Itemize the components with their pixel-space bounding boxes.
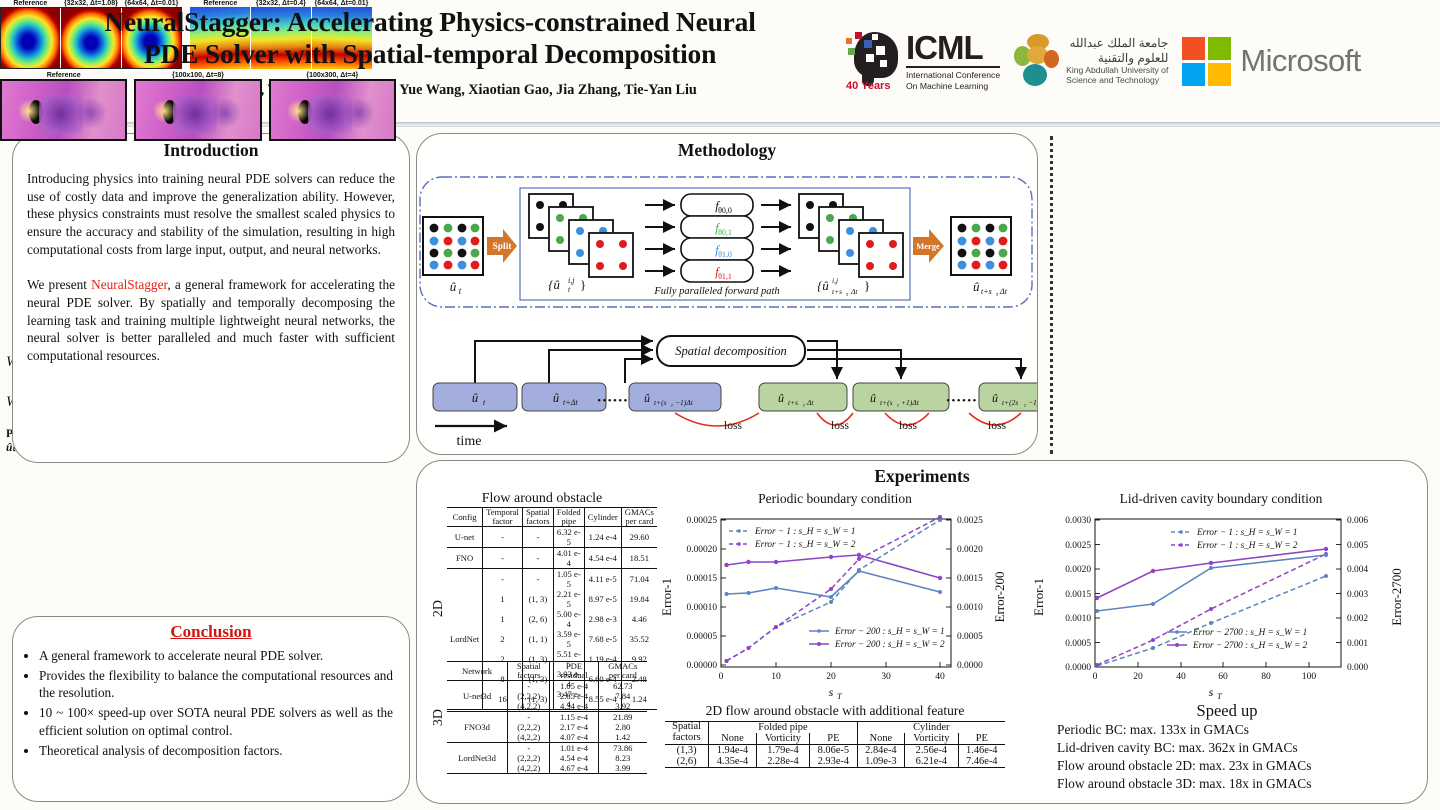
forward-path-caption: Fully paralleled forward path [653,286,779,297]
svg-text:θ1,0: θ1,0 [718,250,732,259]
th-cylinder: Cylinder [584,508,621,527]
svg-text:i,j: i,j [832,276,838,285]
svg-text:0.0000: 0.0000 [957,661,983,671]
svg-text:t+s: t+s [832,287,842,296]
svg-text:40: 40 [1176,671,1186,682]
kaust-arabic-1: جامعة الملك عبدالله [1066,36,1168,50]
table-subheader-row: None Vorticity PE None Vorticity PE [665,733,1005,745]
list-item: A general framework to accelerate neural… [39,647,393,664]
series-error200-s2 [727,555,941,578]
cell: 1.94e-4 [709,745,757,757]
cell: 4.54 e-4 [550,753,598,763]
cell: 2.98 e-3 [584,609,621,629]
icml-subtitle-2: On Machine Learning [906,81,1000,92]
svg-text:θ1,1: θ1,1 [718,272,732,281]
additional-feature-table-block: 2D flow around obstacle with additional … [649,703,1021,768]
cell: 2.84e-4 [857,745,905,757]
viz-flow-image-0 [0,79,127,141]
cell: - [508,681,550,692]
methodology-title: Methodology [417,140,1037,161]
svg-text:0.0005: 0.0005 [957,632,983,642]
svg-text:τ: τ [846,292,849,298]
cell: (2,2,2) [508,691,550,701]
svg-text:0: 0 [1093,671,1098,682]
svg-text:0.006: 0.006 [1347,516,1368,526]
table-row: LordNet--1.05 e-54.11 e-571.04 [447,569,657,590]
svg-text:û: û [973,279,980,294]
speedup-block: Speed up Periodic BC: max. 133x in GMACs… [1037,701,1417,793]
loss-label-2: loss [899,420,917,432]
cell: (2, 6) [522,609,553,629]
svg-text:0.00010: 0.00010 [687,603,718,613]
svg-text:20: 20 [826,671,836,682]
svg-text:100: 100 [1302,671,1317,682]
series-error200-s1 [727,571,941,597]
svg-text:t+s: t+s [788,398,798,407]
timeline-dots-right: •••••• [946,395,978,407]
intro-p2-before: We present [27,277,91,292]
table-header-row: Spatialfactors Folded pipe Cylinder [665,722,1005,734]
cell: (1, 1) [522,629,553,649]
periodic-ylabel-right: Error-200 [992,572,1007,623]
introduction-title: Introduction [13,140,409,161]
svg-text:0.0025: 0.0025 [957,516,983,526]
cell: 3.59 e-5 [553,629,584,649]
loss-label-1: loss [831,420,849,432]
cell: 2.21 e-5 [553,589,584,609]
cell: 21.89 [598,712,647,723]
cell: (2,2,2) [508,722,550,732]
svg-text:i,j: i,j [568,276,575,285]
cell: 1.09e-3 [857,756,905,768]
page-title: NeuralStagger: Accelerating Physics-cons… [20,6,840,71]
cell: 7.68 e-5 [584,629,621,649]
cell: 3.99 [598,763,647,774]
svg-text:0.005: 0.005 [1347,541,1368,551]
periodic-legend-bottom: Error − 200 : s_H = s_W = 1 Error − 200 … [809,626,945,649]
cell: - [522,569,553,590]
cell: 1.42 [598,732,647,743]
svg-text:t+(s: t+(s [654,398,667,407]
th-config: Config [447,508,483,527]
table-row: U-net3d-1.05 e-462.73 [447,681,647,692]
svg-text:30: 30 [881,671,891,682]
th-fp-none: None [709,733,757,745]
series-lid-error1-s1 [1097,576,1326,666]
svg-text:0.00020: 0.00020 [687,545,718,555]
th-folded-pipe: Foldedpipe [553,508,584,527]
icml-40years-label: 40 Years [846,80,890,92]
cell: 1.15 e-4 [550,712,598,723]
th-spatial-factors: Spatialfactors [522,508,553,527]
th-fp-vorticity: Vorticity [756,733,809,745]
svg-text:t+(2s: t+(2s [1002,398,1018,407]
cell: (4,2,2) [508,701,550,712]
kaust-arabic-2: للعلوم والتقنية [1066,51,1168,65]
cell: (2,2,2) [508,753,550,763]
svg-text:0.001: 0.001 [1347,639,1368,649]
th-spatial-factors-3d: Spatialfactors [508,662,550,681]
svg-text:+1)Δt: +1)Δt [901,398,920,407]
svg-text:0.0025: 0.0025 [1065,541,1091,551]
speedup-item-3: Flow around obstacle 3D: max. 18x in GMA… [1057,775,1417,793]
cell: LordNet3d [447,743,508,774]
icml-wordmark: ICML International Conference On Machine… [906,31,1000,91]
cell: 2.56e-4 [905,745,958,757]
viz-flow-image-1 [134,79,261,141]
lid-ylabel-right: Error-2700 [1389,568,1404,626]
svg-text:80: 80 [1261,671,1271,682]
cell: 62.73 [598,681,647,692]
cell: - [483,548,523,569]
svg-text:0.0010: 0.0010 [1065,614,1091,624]
lid-driven-chart-block: Lid-driven cavity boundary condition 0.0… [1021,491,1421,699]
cell: 4.07 e-4 [550,732,598,743]
network-box-0: f θ0,0 [681,194,753,216]
table-header-row: Network Spatialfactors PDEresidual GMACs… [447,662,647,681]
cell: 5.00 e-4 [553,609,584,629]
svg-text:û: û [553,391,559,405]
cell: 6.32 e-5 [553,527,584,548]
methodology-diagram: û t Split {û t i,j } [417,161,1037,451]
cell: 4.35e-4 [709,756,757,768]
periodic-xlabel: s [829,685,834,699]
cell: 8.97 e-5 [584,589,621,609]
th-cy-none: None [857,733,905,745]
introduction-panel: Introduction Introducing physics into tr… [12,133,410,463]
svg-text:10: 10 [771,671,781,682]
svg-text:û: û [992,391,998,405]
th-folded-pipe-group: Folded pipe [709,722,857,734]
th-fp-pe: PE [810,733,858,745]
network-box-3: f θ1,1 [681,260,753,282]
list-item: 10 ~ 100× speed-up over SOTA neural PDE … [39,704,393,738]
svg-text:Merge: Merge [916,241,940,251]
loss-label-0: loss [724,420,742,432]
experiments-panel: Experiments Flow around obstacle 2D Conf… [416,460,1428,804]
svg-text:û: û [472,391,478,405]
cell: U-net3d [447,681,508,712]
table-3d: Network Spatialfactors PDEresidual GMACs… [447,661,647,774]
legend-error200-s2: Error − 200 : s_H = s_W = 2 [834,639,945,649]
cell: 3.92 [598,701,647,712]
cell: 4.54 e-4 [584,548,621,569]
cell: 4.34 e-4 [550,701,598,712]
cell: 1.46e-4 [958,745,1005,757]
legend-lid-error1-s1: Error − 1 : s_H = s_W = 1 [1196,527,1297,537]
cell: 2.93e-4 [810,756,858,768]
timeline-box-blue-2: û t+(s τ −1)Δt [629,383,721,411]
cell: 1 [483,609,523,629]
legend-lid-error2700-s2: Error − 2700 : s_H = s_W = 2 [1192,640,1308,650]
svg-text:0.0000: 0.0000 [1065,663,1091,673]
lid-driven-title: Lid-driven cavity boundary condition [1021,491,1421,507]
svg-text:θ0,1: θ0,1 [718,228,732,237]
cell: (4,2,2) [508,732,550,743]
svg-text:0.0010: 0.0010 [957,603,983,613]
legend-lid-error1-s2: Error − 1 : s_H = s_W = 2 [1196,540,1298,550]
time-axis-label: time [457,434,482,449]
experiments-title: Experiments [417,466,1427,487]
cell: 1.05 e-4 [550,681,598,692]
legend-lid-error2700-s1: Error − 2700 : s_H = s_W = 1 [1192,627,1307,637]
neuralstagger-highlight: NeuralStagger [91,277,167,292]
cell: U-net [447,527,483,548]
title-line-1: NeuralStagger: Accelerating Physics-cons… [20,6,840,38]
svg-text:û: û [644,391,650,405]
introduction-paragraph-1: Introducing physics into training neural… [27,170,395,258]
table-row: FNO3d-1.15 e-421.89 [447,712,647,723]
periodic-legend-top: Error − 1 : s_H = s_W = 1 Error − 1 : s_… [729,526,856,549]
timeline-box-green-2: û t+(2s τ −1)Δt [979,383,1037,411]
cell: 1.01 e-4 [550,743,598,754]
microsoft-squares-icon [1182,37,1231,86]
th-cy-pe: PE [958,733,1005,745]
svg-text:û: û [450,279,457,294]
timeline-box-blue-1: û t+Δt [522,383,606,411]
icml-name: ICML [906,31,1000,64]
lid-xlabel: s [1209,685,1214,699]
svg-text:}: } [580,277,586,292]
svg-text:û: û [870,391,876,405]
title-line-2: PDE Solver with Spatial-temporal Decompo… [20,38,840,70]
cell: (4,2,2) [508,763,550,774]
svg-text:τ: τ [996,292,999,298]
cell: 7.84 [598,691,647,701]
timeline-box-green-0: û t+s τ Δt [759,383,847,411]
svg-text:60: 60 [1218,671,1228,682]
table-row: FNO--4.01 e-44.54 e-418.51 [447,548,657,569]
cell: 6.21e-4 [905,756,958,768]
svg-text:t+s: t+s [981,287,992,296]
th-pde-residual: PDEresidual [550,662,598,681]
svg-text:θ0,0: θ0,0 [718,206,732,215]
svg-text:20: 20 [1133,671,1143,682]
svg-text:0.000: 0.000 [1347,663,1368,673]
network-box-2: f θ1,0 [681,238,753,260]
svg-text:Δt: Δt [850,287,858,296]
svg-text:−1)Δt: −1)Δt [675,398,694,407]
svg-text:Δt: Δt [806,398,814,407]
logo-strip: 40 Years ICML International Conference O… [846,18,1426,104]
cell: FNO3d [447,712,508,743]
loss-label-3: loss [988,420,1006,432]
conclusion-panel: Conclusion A general framework to accele… [12,616,410,802]
cell: 2.85 e-4 [550,691,598,701]
spatial-decomposition-box-label: Spatial decomposition [675,344,786,358]
cell: 1.05 e-5 [553,569,584,590]
lid-ylabel-left: Error-1 [1031,578,1046,616]
network-box-1: f θ0,1 [681,216,753,238]
periodic-bc-chart: 0.000250.000200.00015 0.000100.000050.00… [649,507,1021,699]
cell: - [483,569,523,590]
cell: (1, 3) [522,589,553,609]
timeline-dots-left: •••••• [597,395,629,407]
table-row: (2,6) 4.35e-4 2.28e-4 2.93e-4 1.09e-3 6.… [665,756,1005,768]
cell: FNO [447,548,483,569]
legend-error1-s2: Error − 1 : s_H = s_W = 2 [754,539,856,549]
lid-legend-top: Error − 1 : s_H = s_W = 1 Error − 1 : s_… [1171,527,1298,550]
cell: 1.79e-4 [756,745,809,757]
svg-text:T: T [837,691,843,699]
svg-text:{û: {û [817,278,829,293]
kaust-logo: جامعة الملك عبدالله للعلوم والتقنية King… [1014,34,1168,88]
cell: 8.06e-5 [810,745,858,757]
icml-subtitle-1: International Conference [906,70,1000,81]
legend-error1-s1: Error − 1 : s_H = s_W = 1 [754,526,855,536]
table-2d-group-label: 2D [431,600,447,617]
conclusion-list: A general framework to accelerate neural… [39,647,393,759]
svg-text:0: 0 [719,671,724,682]
svg-text:0.00005: 0.00005 [687,632,718,642]
cell: - [508,743,550,754]
svg-text:0.0030: 0.0030 [1065,516,1091,526]
additional-feature-table: Spatialfactors Folded pipe Cylinder None… [665,721,1005,768]
th-cylinder-group: Cylinder [857,722,1005,734]
svg-text:û: û [778,391,784,405]
svg-text:40: 40 [935,671,945,682]
viz-flow-image-2 [269,79,396,141]
kaust-wordmark: جامعة الملك عبدالله للعلوم والتقنية King… [1066,36,1168,85]
cell: - [522,527,553,548]
cell: 8.23 [598,753,647,763]
speedup-item-2: Flow around obstacle 2D: max. 23x in GMA… [1057,757,1417,775]
icml-brain-icon: 40 Years [846,30,902,92]
svg-text:t: t [568,285,571,294]
svg-text:0.003: 0.003 [1347,590,1368,600]
cell: 4.11 e-5 [584,569,621,590]
speedup-item-1: Lid-driven cavity BC: max. 362x in GMACs [1057,739,1417,757]
svg-text:t: t [459,286,462,296]
cell: 4.67 e-4 [550,763,598,774]
svg-text:Split: Split [492,242,512,252]
timeline-box-green-1: û t+(s τ +1)Δt [853,383,949,411]
svg-text:0.0020: 0.0020 [957,545,983,555]
microsoft-logo: Microsoft [1182,37,1360,86]
cell: - [508,712,550,723]
svg-text:0.00025: 0.00025 [687,516,718,526]
methodology-panel: Methodology û t Split [416,133,1038,455]
list-item: Provides the flexibility to balance the … [39,667,393,701]
svg-text:t+Δt: t+Δt [563,398,578,407]
periodic-ylabel-left: Error-1 [659,578,674,616]
table-row: LordNet3d-1.01 e-473.86 [447,743,647,754]
cell: (1,3) [665,745,709,757]
table-3d-block: 3D Network Spatialfactors PDEresidual GM… [431,661,653,774]
conclusion-title: Conclusion [13,617,409,642]
svg-text:0.00015: 0.00015 [687,574,718,584]
periodic-bc-title: Periodic boundary condition [649,491,1021,507]
svg-text:T: T [1217,691,1223,699]
list-item: Theoretical analysis of decomposition fa… [39,742,393,759]
cell: 2 [483,629,523,649]
introduction-paragraph-2: We present NeuralStagger, a general fram… [27,276,395,364]
th-cy-vorticity: Vorticity [905,733,958,745]
table-row: U-net--6.32 e-51.24 e-429.60 [447,527,657,548]
timeline-box-blue-0: û t [433,383,517,411]
svg-text:{û: {û [548,277,560,292]
icml-logo: 40 Years ICML International Conference O… [846,30,1000,92]
th-temporal-factor: Temporalfactor [483,508,523,527]
lid-driven-chart: 0.00300.00250.0020 0.00150.00100.00050.0… [1021,507,1421,699]
lid-legend-bottom: Error − 2700 : s_H = s_W = 1 Error − 270… [1167,627,1308,650]
cell: 2.80 [598,722,647,732]
th-gmacs-3d: GMACsper card [598,662,647,681]
legend-error200-s1: Error − 200 : s_H = s_W = 1 [834,626,945,636]
th-spatial-factors-feat: Spatialfactors [665,722,709,745]
kaust-english-1: King Abdullah University of [1066,65,1168,75]
cell: 4.01 e-4 [553,548,584,569]
kaust-english-2: Science and Technology [1066,75,1168,85]
svg-text:−1)Δt: −1)Δt [1028,398,1037,407]
vertical-dotted-divider [1050,136,1053,454]
table-row: (1,3) 1.94e-4 1.79e-4 8.06e-5 2.84e-4 2.… [665,745,1005,757]
svg-text:0.0015: 0.0015 [1065,590,1091,600]
svg-text:0.004: 0.004 [1347,565,1368,575]
cell: 2.17 e-4 [550,722,598,732]
cell: 1.24 e-4 [584,527,621,548]
cell: - [483,527,523,548]
flow-around-obstacle-caption: Flow around obstacle [431,491,653,507]
svg-text:0.00000: 0.00000 [687,661,718,671]
cell: 2.28e-4 [756,756,809,768]
svg-text:0.0020: 0.0020 [1065,565,1091,575]
svg-text:0.0015: 0.0015 [957,574,983,584]
speedup-title: Speed up [1037,701,1417,721]
cell: (2,6) [665,756,709,768]
periodic-bc-chart-block: Periodic boundary condition 0.000250.000… [649,491,1021,699]
cell: 7.46e-4 [958,756,1005,768]
svg-text:0.002: 0.002 [1347,614,1368,624]
svg-text:Δt: Δt [999,287,1008,296]
additional-feature-caption: 2D flow around obstacle with additional … [649,703,1021,719]
table-header-row: Config Temporalfactor Spatialfactors Fol… [447,508,657,527]
speedup-item-0: Periodic BC: max. 133x in GMACs [1057,721,1417,739]
table-3d-group-label: 3D [431,709,447,726]
th-network: Network [447,662,508,681]
cell: - [522,548,553,569]
cell: 1 [483,589,523,609]
svg-text:}: } [864,278,870,293]
svg-text:0.0005: 0.0005 [1065,639,1091,649]
kaust-mark-icon [1014,34,1060,88]
microsoft-wordmark: Microsoft [1240,43,1360,79]
svg-text:t+(s: t+(s [880,398,893,407]
cell: 73.86 [598,743,647,754]
